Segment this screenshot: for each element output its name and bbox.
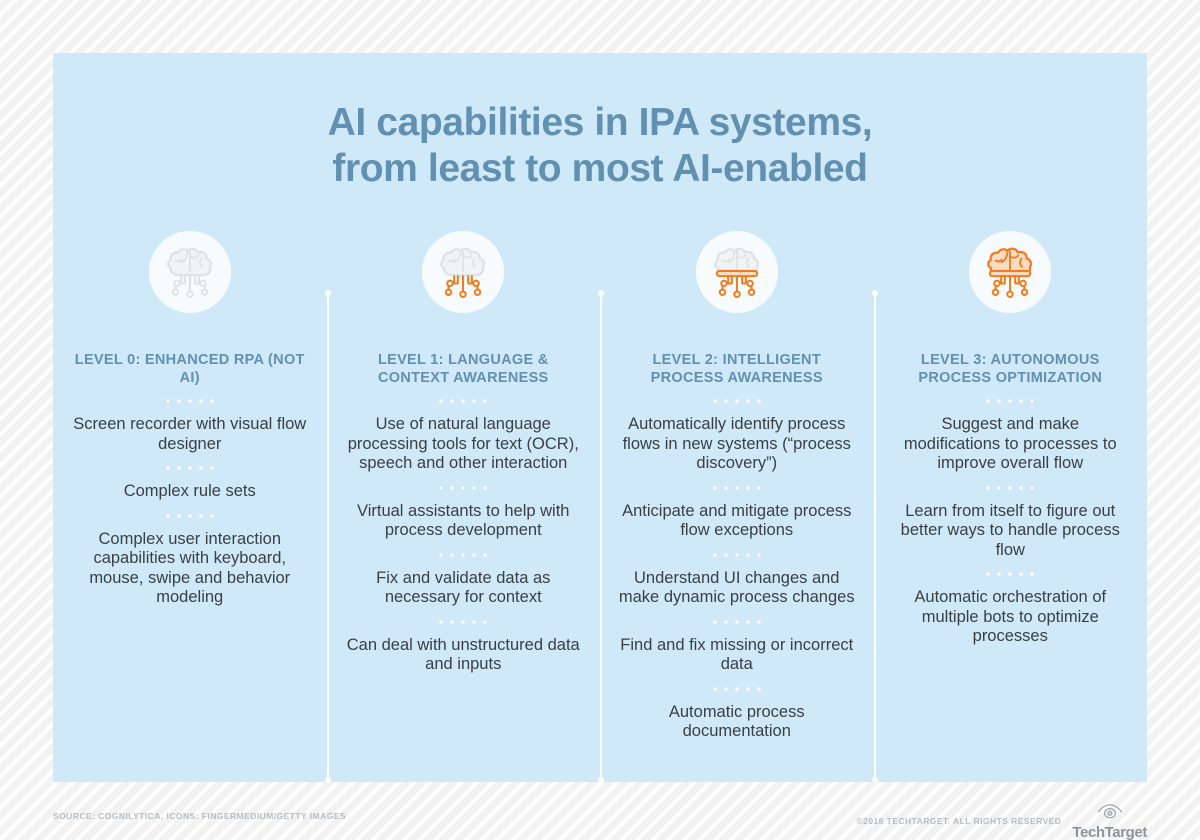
dot-separator <box>432 485 494 491</box>
copyright-text: ©2018 TECHTARGET. ALL RIGHTS RESERVED <box>856 816 1061 828</box>
level-bullet: Screen recorder with visual flow designe… <box>71 415 309 454</box>
level-bullet: Automatic orchestration of multiple bots… <box>892 588 1130 647</box>
level-bullet: Fix and validate data as necessary for c… <box>345 569 583 608</box>
dot-separator <box>159 513 221 519</box>
dot-separator <box>432 398 494 404</box>
level-bullet: Understand UI changes and make dynamic p… <box>618 569 856 608</box>
dot-separator <box>979 571 1041 577</box>
eye-target-icon <box>1097 804 1123 824</box>
level-bullet: Automatic process documentation <box>618 703 856 742</box>
dot-separator <box>706 552 768 558</box>
level-bullet: Complex user interaction capabilities wi… <box>71 530 309 608</box>
source-credit: SOURCE: COGNILYTICA, ICONS: FINGERMEDIUM… <box>53 811 346 821</box>
column-divider <box>327 293 329 780</box>
footer-right: ©2018 TECHTARGET. ALL RIGHTS RESERVED Te… <box>856 804 1147 840</box>
logo-wordmark: TechTarget <box>1072 825 1147 840</box>
icon-wrap <box>345 231 583 313</box>
title-line-1: AI capabilities in IPA systems, <box>53 100 1147 146</box>
level-bullet: Use of natural language processing tools… <box>345 415 583 474</box>
dot-separator <box>432 552 494 558</box>
brain-circuit-icon <box>422 231 504 313</box>
column-divider <box>600 293 602 780</box>
level-bullet: Complex rule sets <box>71 482 309 502</box>
level-heading-1: LEVEL 1: LANGUAGE & CONTEXT AWARENESS <box>345 351 583 387</box>
icon-wrap <box>618 231 856 313</box>
level-bullet: Virtual assistants to help with process … <box>345 502 583 541</box>
level-bullet: Anticipate and mitigate process flow exc… <box>618 502 856 541</box>
dot-separator <box>159 465 221 471</box>
brain-circuit-icon <box>696 231 778 313</box>
dot-separator <box>979 485 1041 491</box>
level-column-1: LEVEL 1: LANGUAGE & CONTEXT AWARENESSUse… <box>327 231 601 742</box>
level-bullet: Suggest and make modifications to proces… <box>892 415 1130 474</box>
brain-circuit-icon <box>149 231 231 313</box>
level-heading-0: LEVEL 0: ENHANCED RPA (NOT AI) <box>71 351 309 387</box>
level-column-3: LEVEL 3: AUTONOMOUS PROCESS OPTIMIZATION… <box>874 231 1148 742</box>
infographic-panel: AI capabilities in IPA systems, from lea… <box>53 53 1147 782</box>
level-heading-2: LEVEL 2: INTELLIGENT PROCESS AWARENESS <box>618 351 856 387</box>
dot-separator <box>432 619 494 625</box>
dot-separator <box>706 619 768 625</box>
level-heading-3: LEVEL 3: AUTONOMOUS PROCESS OPTIMIZATION <box>892 351 1130 387</box>
dot-separator <box>979 398 1041 404</box>
techtarget-logo: TechTarget <box>1072 804 1147 840</box>
page-title: AI capabilities in IPA systems, from lea… <box>53 53 1147 192</box>
level-column-2: LEVEL 2: INTELLIGENT PROCESS AWARENESSAu… <box>600 231 874 742</box>
title-line-2: from least to most AI-enabled <box>53 146 1147 192</box>
dot-separator <box>706 686 768 692</box>
level-bullet: Can deal with unstructured data and inpu… <box>345 636 583 675</box>
level-bullet: Find and fix missing or incorrect data <box>618 636 856 675</box>
dot-separator <box>159 398 221 404</box>
dot-separator <box>706 398 768 404</box>
icon-wrap <box>71 231 309 313</box>
column-divider <box>874 293 876 780</box>
icon-wrap <box>892 231 1130 313</box>
brain-circuit-icon <box>969 231 1051 313</box>
level-column-0: LEVEL 0: ENHANCED RPA (NOT AI)Screen rec… <box>53 231 327 742</box>
level-bullet: Automatically identify process flows in … <box>618 415 856 474</box>
levels-container: LEVEL 0: ENHANCED RPA (NOT AI)Screen rec… <box>53 231 1147 742</box>
dot-separator <box>706 485 768 491</box>
level-bullet: Learn from itself to figure out better w… <box>892 502 1130 561</box>
